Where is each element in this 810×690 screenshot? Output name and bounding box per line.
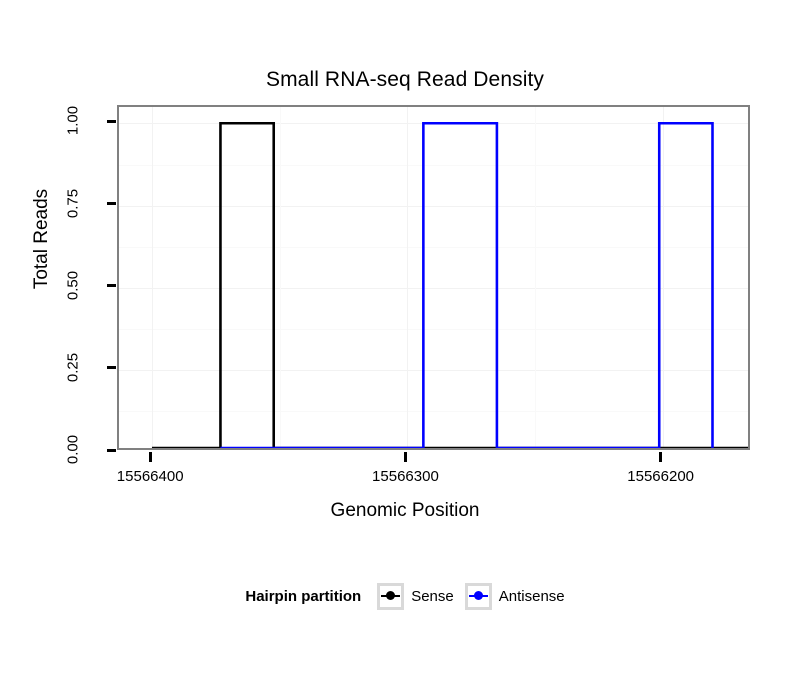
y-tick-mark (107, 120, 116, 123)
x-tick-mark (659, 452, 662, 462)
x-axis-title: Genomic Position (0, 500, 810, 522)
legend-key-icon (377, 583, 404, 610)
chart-figure: Small RNA-seq Read Density Total Reads 0… (0, 0, 810, 690)
chart-title: Small RNA-seq Read Density (0, 68, 810, 92)
plot-panel (117, 105, 750, 450)
y-tick-mark (107, 284, 116, 287)
x-tick-label: 15566200 (581, 468, 741, 485)
legend-item-antisense[interactable]: Antisense (465, 583, 565, 610)
chart-legend: Hairpin partition SenseAntisense (0, 583, 810, 610)
legend-item-sense[interactable]: Sense (377, 583, 454, 610)
y-tick-label: 0.50 (65, 255, 82, 315)
y-tick-label: 1.00 (65, 91, 82, 151)
y-tick-mark (107, 366, 116, 369)
legend-item-label: Sense (411, 588, 454, 605)
legend-key-icon (465, 583, 492, 610)
legend-item-label: Antisense (499, 588, 565, 605)
y-axis-title: Total Reads (31, 89, 53, 389)
x-tick-label: 15566400 (70, 468, 230, 485)
series-line-antisense (220, 123, 712, 448)
y-tick-label: 0.75 (65, 173, 82, 233)
data-series-layer (119, 107, 748, 448)
legend-key-point-icon (474, 591, 483, 600)
legend-key-point-icon (386, 591, 395, 600)
legend-title: Hairpin partition (245, 588, 361, 605)
y-tick-mark (107, 202, 116, 205)
x-tick-mark (149, 452, 152, 462)
x-tick-mark (404, 452, 407, 462)
x-tick-label: 15566300 (325, 468, 485, 485)
y-tick-label: 0.25 (65, 337, 82, 397)
y-tick-mark (107, 449, 116, 452)
legend-items: SenseAntisense (377, 583, 564, 610)
